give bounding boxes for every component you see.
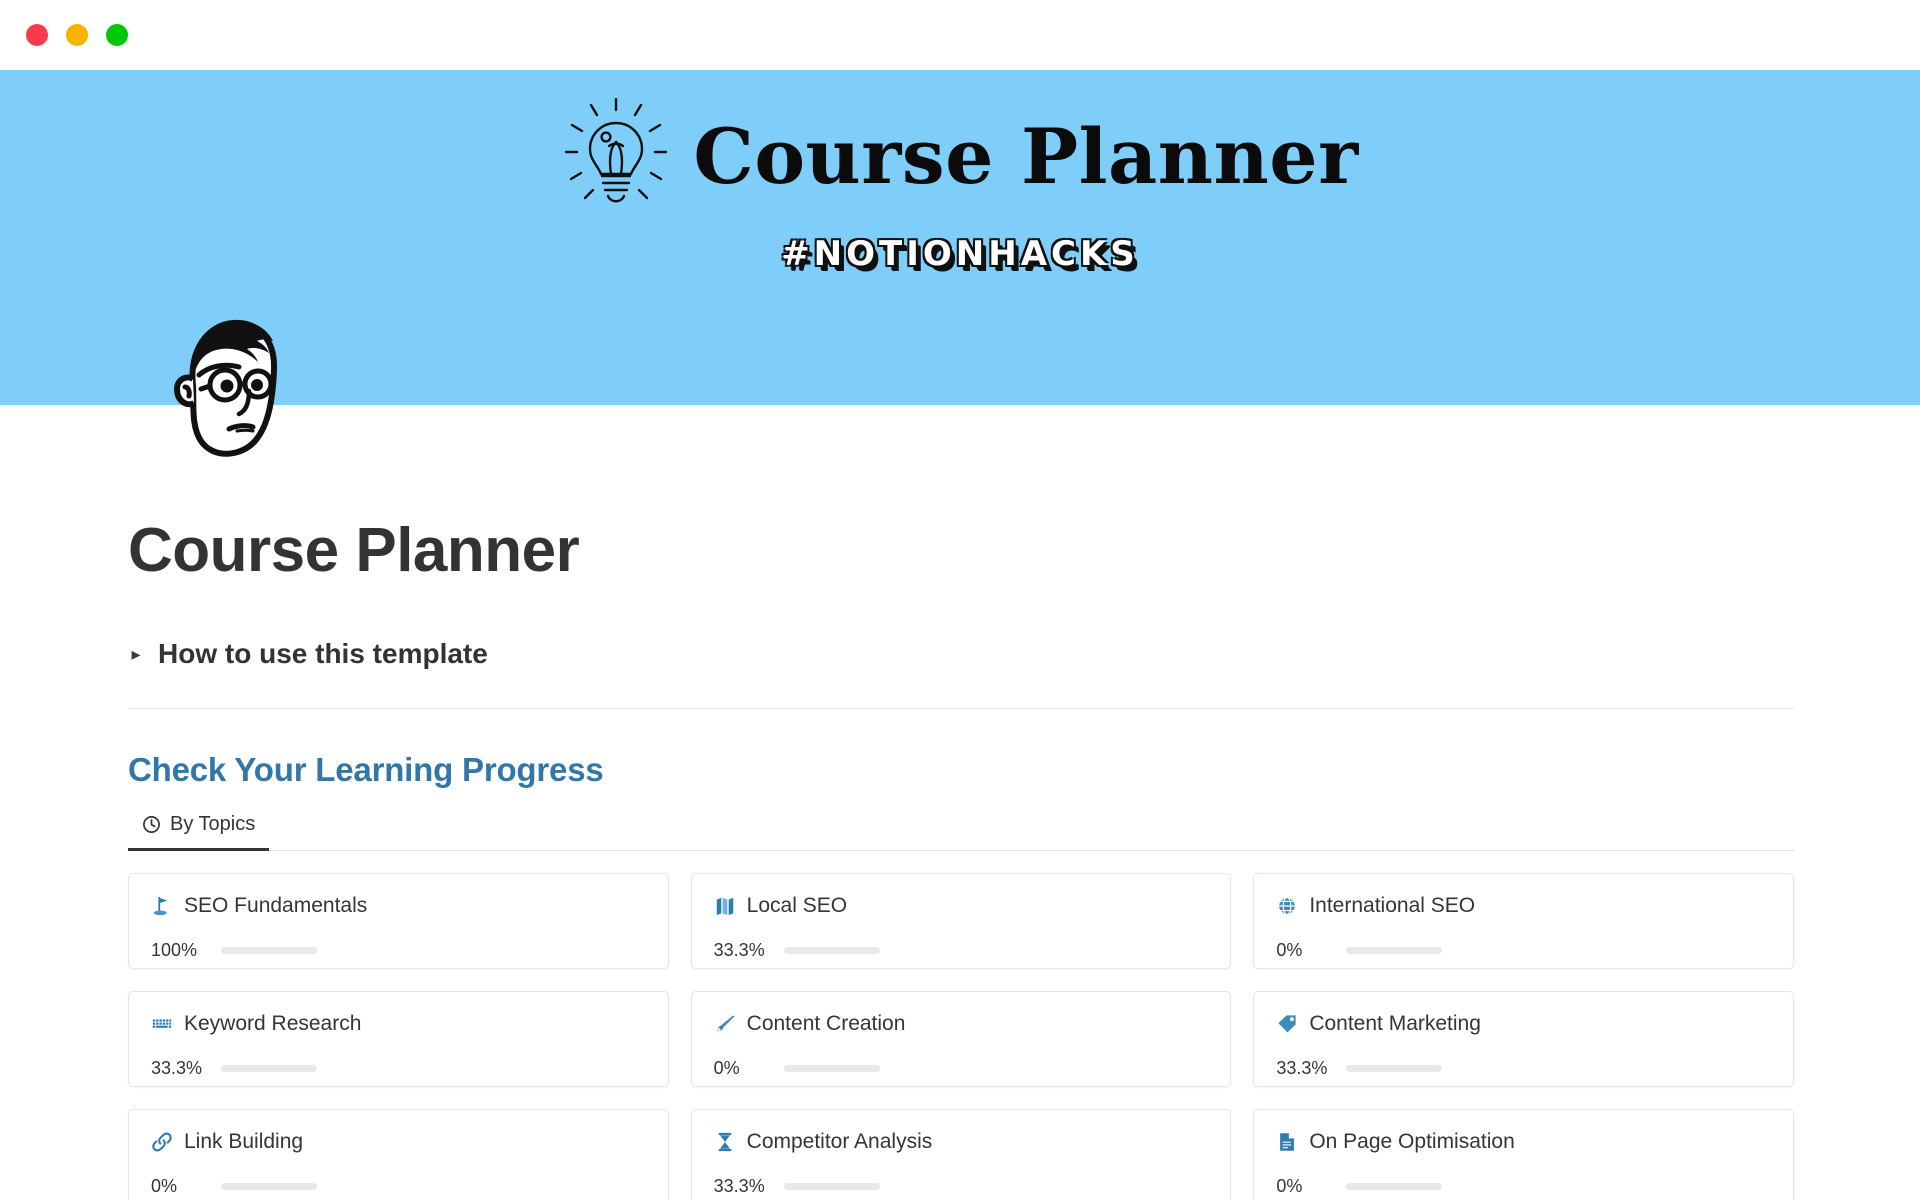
how-to-use-toggle-label: How to use this template bbox=[158, 638, 488, 670]
progress-bar bbox=[1346, 1183, 1442, 1190]
progress-percent-label: 33.3% bbox=[151, 1058, 207, 1079]
card-title: Content Creation bbox=[747, 1012, 906, 1036]
progress-bar bbox=[221, 1065, 317, 1072]
card-progress-row: 33.3% bbox=[714, 1176, 1209, 1197]
minimize-window-button[interactable] bbox=[66, 24, 88, 46]
topic-card[interactable]: Link Building 0% bbox=[128, 1109, 669, 1200]
card-title-row: On Page Optimisation bbox=[1276, 1130, 1771, 1154]
card-progress-row: 0% bbox=[1276, 940, 1771, 961]
card-progress-row: 33.3% bbox=[1276, 1058, 1771, 1079]
lightbulb-icon bbox=[561, 98, 671, 216]
progress-tabs-bar: By Topics bbox=[128, 807, 1794, 851]
learning-progress-section: Check Your Learning Progress By Topics bbox=[128, 751, 1794, 1200]
page-title: Course Planner bbox=[128, 515, 1794, 586]
topic-card[interactable]: Keyword Research 33.3% bbox=[128, 991, 669, 1087]
window-title-bar bbox=[0, 0, 1920, 70]
topic-card[interactable]: On Page Optimisation 0% bbox=[1253, 1109, 1794, 1200]
progress-percent-label: 0% bbox=[714, 1058, 770, 1079]
cover-logo-block: Course Planner #NOTIONHACKS bbox=[0, 98, 1920, 274]
page-header-block: Course Planner ▸ How to use this templat… bbox=[128, 515, 1794, 708]
card-title: Keyword Research bbox=[184, 1012, 361, 1036]
cartoon-face-avatar-icon bbox=[163, 313, 287, 465]
progress-percent-label: 33.3% bbox=[714, 1176, 770, 1197]
paintbrush-icon bbox=[714, 1013, 736, 1035]
topic-cards-grid: SEO Fundamentals 100% Loca bbox=[128, 873, 1794, 1200]
golf-flag-icon bbox=[151, 895, 173, 917]
progress-percent-label: 100% bbox=[151, 940, 207, 961]
section-divider bbox=[128, 708, 1794, 709]
card-title: SEO Fundamentals bbox=[184, 894, 367, 918]
card-title: On Page Optimisation bbox=[1309, 1130, 1514, 1154]
link-icon bbox=[151, 1131, 173, 1153]
cover-title: Course Planner bbox=[693, 119, 1358, 195]
card-title-row: Content Marketing bbox=[1276, 1012, 1771, 1036]
card-title-row: International SEO bbox=[1276, 894, 1771, 918]
page-body: Course Planner ▸ How to use this templat… bbox=[0, 515, 1920, 1200]
card-title-row: Content Creation bbox=[714, 1012, 1209, 1036]
topic-card[interactable]: Competitor Analysis 33.3% bbox=[691, 1109, 1232, 1200]
progress-bar bbox=[784, 1065, 880, 1072]
progress-bar bbox=[221, 947, 317, 954]
map-icon bbox=[714, 895, 736, 917]
tab-by-topics[interactable]: By Topics bbox=[128, 807, 269, 851]
card-progress-row: 0% bbox=[1276, 1176, 1771, 1197]
card-title-row: Keyword Research bbox=[151, 1012, 646, 1036]
card-title-row: Local SEO bbox=[714, 894, 1209, 918]
chevron-right-icon[interactable]: ▸ bbox=[128, 645, 144, 663]
hourglass-icon bbox=[714, 1131, 736, 1153]
card-progress-row: 100% bbox=[151, 940, 646, 961]
card-title: International SEO bbox=[1309, 894, 1475, 918]
topic-card[interactable]: SEO Fundamentals 100% bbox=[128, 873, 669, 969]
topic-card[interactable]: Content Creation 0% bbox=[691, 991, 1232, 1087]
card-title-row: Link Building bbox=[151, 1130, 646, 1154]
card-progress-row: 33.3% bbox=[714, 940, 1209, 961]
clock-icon bbox=[142, 815, 161, 834]
progress-bar bbox=[1346, 947, 1442, 954]
progress-bar bbox=[784, 947, 880, 954]
progress-bar bbox=[784, 1183, 880, 1190]
card-progress-row: 33.3% bbox=[151, 1058, 646, 1079]
card-title: Link Building bbox=[184, 1130, 303, 1154]
card-title-row: Competitor Analysis bbox=[714, 1130, 1209, 1154]
progress-percent-label: 0% bbox=[1276, 1176, 1332, 1197]
card-title: Local SEO bbox=[747, 894, 847, 918]
progress-section-heading: Check Your Learning Progress bbox=[128, 751, 1794, 789]
topic-card[interactable]: International SEO 0% bbox=[1253, 873, 1794, 969]
close-window-button[interactable] bbox=[26, 24, 48, 46]
cover-subtitle: #NOTIONHACKS bbox=[781, 234, 1139, 274]
card-progress-row: 0% bbox=[714, 1058, 1209, 1079]
topic-card[interactable]: Content Marketing 33.3% bbox=[1253, 991, 1794, 1087]
traffic-light-group bbox=[26, 24, 128, 46]
progress-bar bbox=[221, 1183, 317, 1190]
card-title: Content Marketing bbox=[1309, 1012, 1481, 1036]
card-progress-row: 0% bbox=[151, 1176, 646, 1197]
tab-by-topics-label: By Topics bbox=[170, 813, 255, 836]
page-icon-avatar[interactable] bbox=[163, 313, 287, 465]
tag-icon bbox=[1276, 1013, 1298, 1035]
cover-logo-row: Course Planner bbox=[561, 98, 1358, 216]
card-title-row: SEO Fundamentals bbox=[151, 894, 646, 918]
progress-percent-label: 33.3% bbox=[1276, 1058, 1332, 1079]
topic-card[interactable]: Local SEO 33.3% bbox=[691, 873, 1232, 969]
keyboard-icon bbox=[151, 1013, 173, 1035]
how-to-use-toggle[interactable]: ▸ How to use this template bbox=[128, 638, 1794, 708]
progress-percent-label: 33.3% bbox=[714, 940, 770, 961]
document-icon bbox=[1276, 1131, 1298, 1153]
progress-bar bbox=[1346, 1065, 1442, 1072]
progress-percent-label: 0% bbox=[1276, 940, 1332, 961]
page-cover-banner[interactable]: Course Planner #NOTIONHACKS bbox=[0, 70, 1920, 405]
globe-icon bbox=[1276, 895, 1298, 917]
card-title: Competitor Analysis bbox=[747, 1130, 933, 1154]
maximize-window-button[interactable] bbox=[106, 24, 128, 46]
progress-percent-label: 0% bbox=[151, 1176, 207, 1197]
